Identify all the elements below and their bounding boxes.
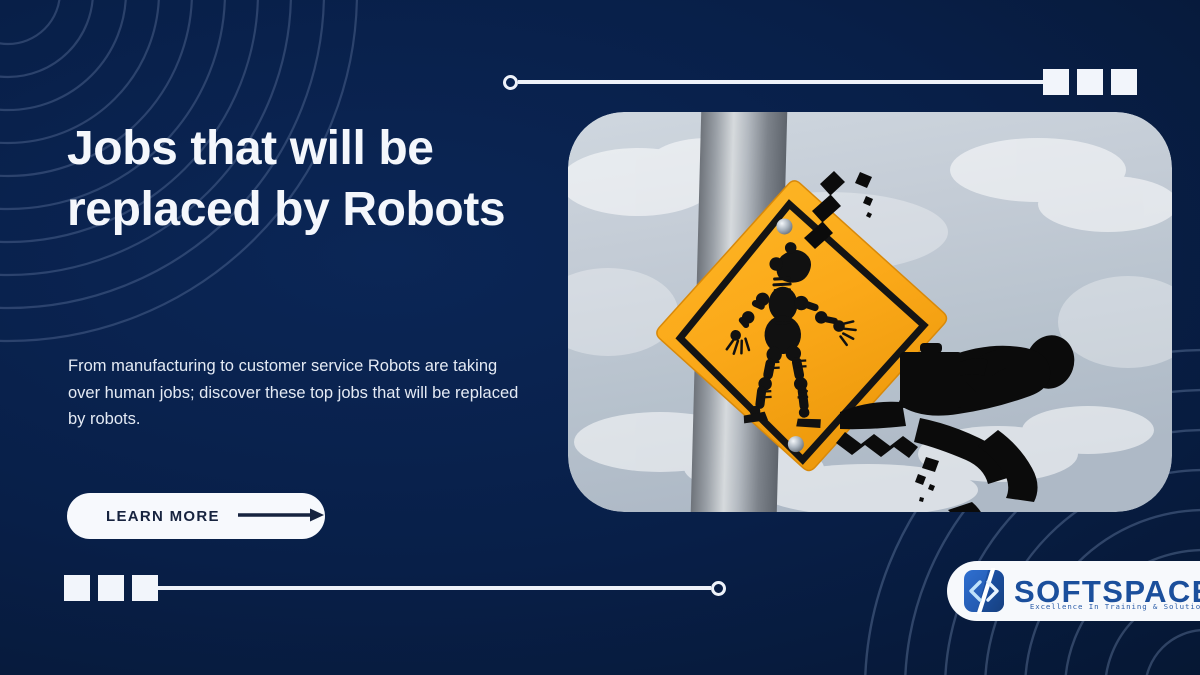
rail-square bbox=[64, 575, 90, 601]
brand-logo[interactable]: SOFTSPACE Excellence In Training & Solut… bbox=[947, 561, 1200, 621]
rail-square bbox=[1111, 69, 1137, 95]
rail-square bbox=[1043, 69, 1069, 95]
subcopy-text: From manufacturing to customer service R… bbox=[68, 353, 528, 433]
decor-rail-bottom bbox=[64, 575, 726, 601]
rail-square bbox=[132, 575, 158, 601]
logo-tagline: Excellence In Training & Solutions bbox=[1030, 602, 1200, 611]
hero-image bbox=[568, 112, 1172, 512]
headline-line-2: replaced by Robots bbox=[67, 183, 505, 236]
decor-rail-top bbox=[503, 69, 1137, 95]
learn-more-label: LEARN MORE bbox=[106, 508, 220, 525]
rail-dot-icon bbox=[503, 75, 518, 90]
learn-more-button[interactable]: LEARN MORE bbox=[67, 493, 325, 539]
softspace-logo-icon bbox=[963, 568, 1005, 614]
headline-line-1: Jobs that will be bbox=[67, 122, 434, 175]
rail-line bbox=[158, 586, 711, 590]
arrow-right-icon bbox=[238, 507, 326, 526]
rail-square bbox=[98, 575, 124, 601]
rail-dot-icon bbox=[711, 581, 726, 596]
page-title: Jobs that will be replaced by Robots bbox=[67, 118, 587, 241]
rail-square bbox=[1077, 69, 1103, 95]
rail-line bbox=[518, 80, 1043, 84]
